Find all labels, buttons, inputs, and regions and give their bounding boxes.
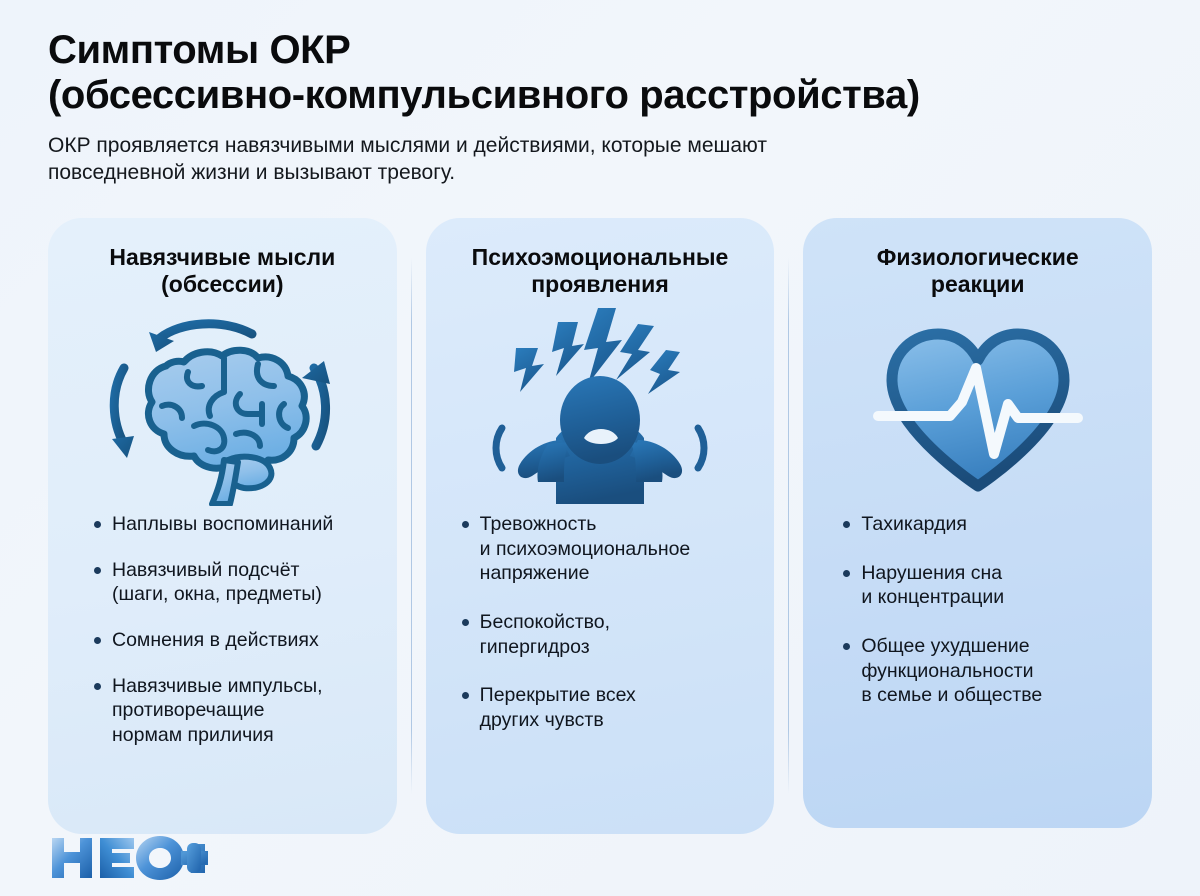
- list-item: Наплывы воспоминаний: [90, 512, 399, 537]
- neo-plus-logo: [48, 832, 208, 882]
- list-item: Навязчивый подсчёт (шаги, окна, предметы…: [90, 558, 399, 607]
- card-bullet-list: Наплывы воспоминаний Навязчивый подсчёт …: [68, 512, 399, 768]
- stressed-person-icon: [480, 300, 720, 512]
- card-divider: [788, 258, 789, 794]
- list-item: Сомнения в действиях: [90, 628, 399, 653]
- heart-pulse-icon: [858, 300, 1098, 512]
- list-item: Перекрытие всех других чувств: [458, 683, 767, 732]
- list-item: Тахикардия: [839, 512, 1148, 537]
- card-title: Физиологические реакции: [877, 244, 1079, 298]
- card-divider: [411, 258, 412, 794]
- infographic-page: Симптомы ОКР (обсессивно-компульсивного …: [0, 0, 1200, 896]
- page-title: Симптомы ОКР (обсессивно-компульсивного …: [48, 28, 1160, 118]
- card-bullet-list: Тахикардия Нарушения сна и концентрации …: [823, 512, 1148, 731]
- header: Симптомы ОКР (обсессивно-компульсивного …: [40, 28, 1160, 187]
- list-item: Тревожность и психоэмоциональное напряже…: [458, 512, 767, 586]
- brain-cycle-icon: [102, 300, 342, 512]
- page-subtitle: ОКР проявляется навязчивыми мыслями и де…: [48, 132, 1078, 187]
- card-physiological-reactions: Физиологические реакции: [803, 218, 1152, 828]
- list-item: Нарушения сна и концентрации: [839, 561, 1148, 610]
- card-title: Навязчивые мысли (обсессии): [109, 244, 335, 298]
- card-title: Психоэмоциональные проявления: [472, 244, 729, 298]
- list-item: Общее ухудшение функциональности в семье…: [839, 634, 1148, 708]
- list-item: Беспокойство, гипергидроз: [458, 610, 767, 659]
- card-obsessive-thoughts: Навязчивые мысли (обсессии): [48, 218, 397, 834]
- card-psychoemotional-manifestations: Психоэмоциональные проявления: [426, 218, 775, 834]
- symptom-cards-row: Навязчивые мысли (обсессии): [48, 218, 1152, 834]
- list-item: Навязчивые импульсы, противоречащие норм…: [90, 674, 399, 748]
- card-bullet-list: Тревожность и психоэмоциональное напряже…: [446, 512, 767, 756]
